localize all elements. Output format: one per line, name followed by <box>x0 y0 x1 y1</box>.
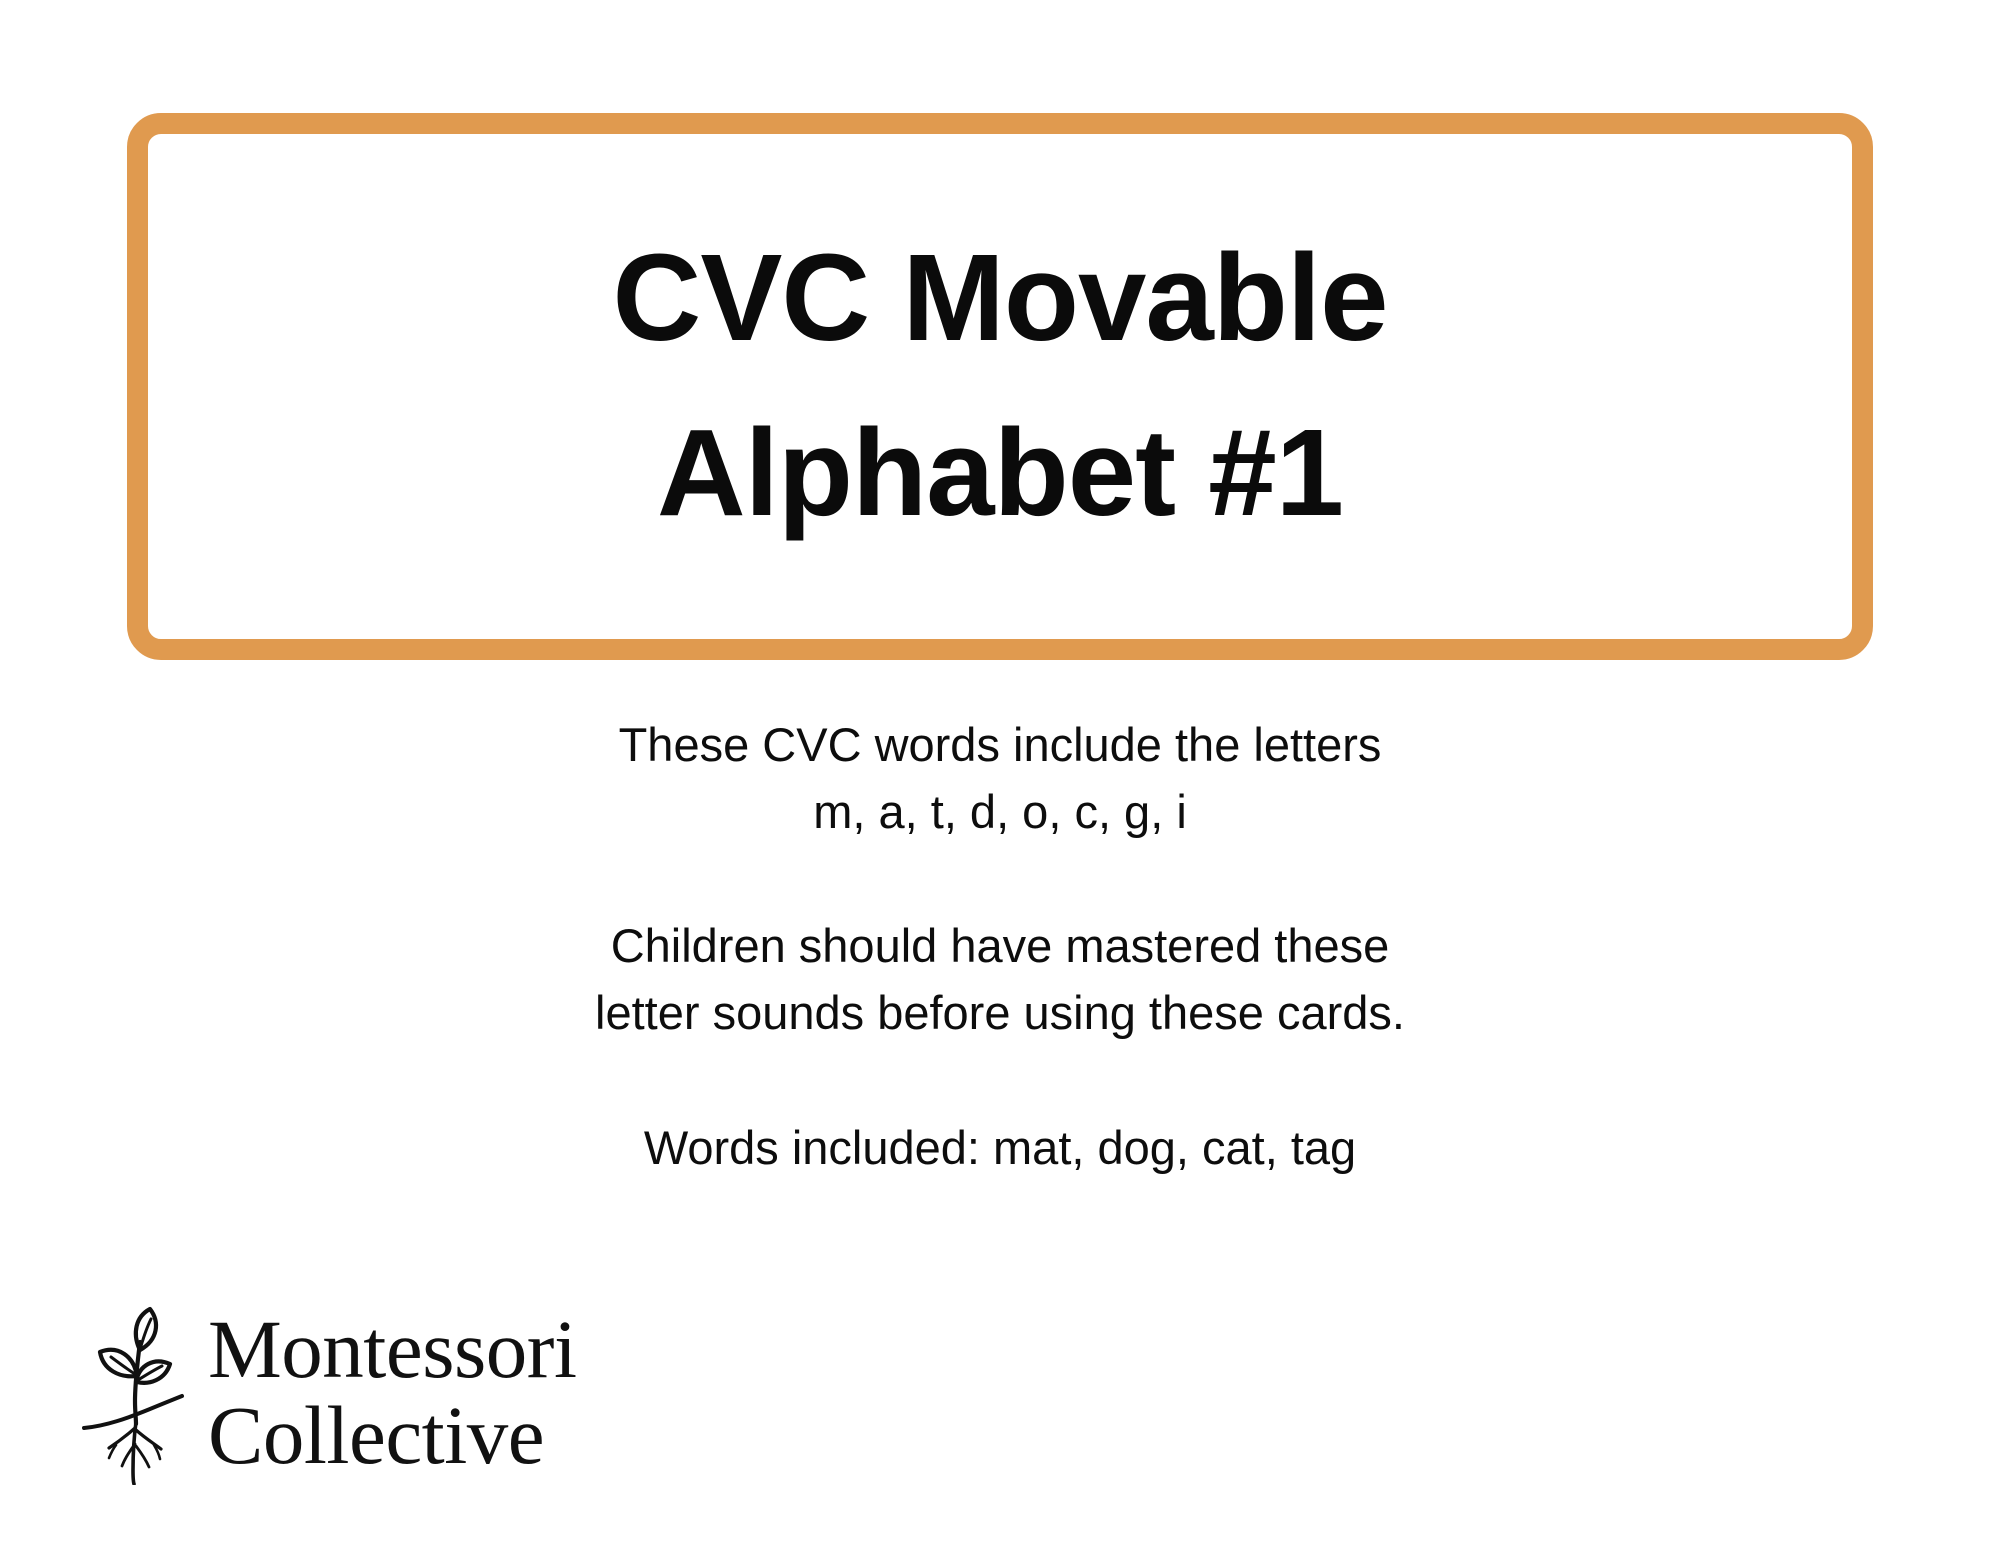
prerequisite-paragraph: Children should have mastered these lett… <box>0 913 2000 1046</box>
page-title: CVC Movable Alphabet #1 <box>573 212 1428 561</box>
title-card: CVC Movable Alphabet #1 <box>127 113 1873 660</box>
paragraph-spacer <box>0 1047 2000 1115</box>
brand-logo: Montessori Collective <box>78 1300 577 1485</box>
sprout-plant-with-roots-icon <box>78 1300 200 1485</box>
worksheet-cover-page: CVC Movable Alphabet #1 These CVC words … <box>0 0 2000 1545</box>
words-included-paragraph: Words included: mat, dog, cat, tag <box>0 1115 2000 1182</box>
body-copy: These CVC words include the letters m, a… <box>0 712 2000 1182</box>
brand-wordmark: Montessori Collective <box>208 1309 577 1476</box>
letters-paragraph: These CVC words include the letters m, a… <box>0 712 2000 845</box>
brand-name-line-1: Montessori <box>208 1309 577 1390</box>
paragraph-spacer <box>0 845 2000 913</box>
brand-name-line-2: Collective <box>208 1395 577 1476</box>
